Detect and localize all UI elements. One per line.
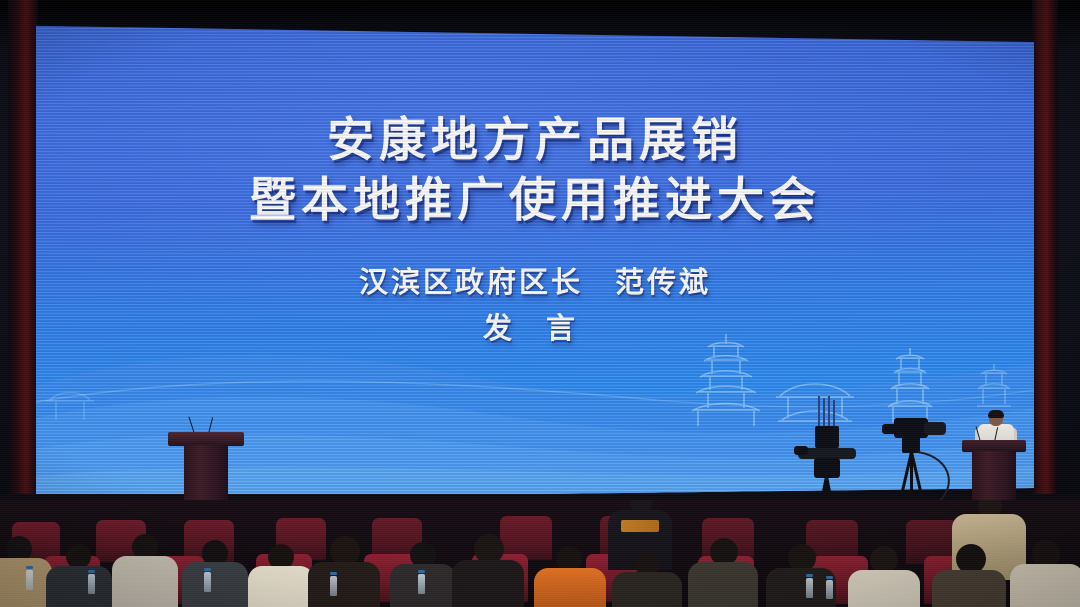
speaker-name-line: 汉滨区政府区长 范传斌 [36,262,1034,302]
speech-label-line: 发 言 [36,308,1034,348]
audience-area [0,500,1080,607]
speaker-hair [988,410,1004,418]
camera-lens-right [924,422,946,435]
camera-antenna-c [828,396,830,426]
water-bottle-cap [418,570,425,573]
camera-antenna-b [823,398,825,426]
person-shoulders [688,562,758,607]
person [48,544,110,607]
water-bottle [88,574,95,594]
person [182,540,246,607]
water-bottle [806,578,813,598]
camera-antenna-d [833,400,835,426]
stage-curtain-left [8,0,38,540]
person-shoulders [308,562,380,607]
camera-viewfinder-right [882,424,896,434]
water-bottle [826,580,833,599]
camera-antenna-a [818,396,820,426]
water-bottle-cap [88,570,95,573]
person-shoulders [932,570,1006,607]
person [310,536,378,607]
person [614,550,680,607]
camera-light-center [794,446,808,455]
person-shoulders [248,566,314,607]
water-bottle-cap [204,568,211,571]
person-shoulders [182,562,248,607]
water-bottle [330,576,337,596]
event-title-line-2: 暨本地推广使用推进大会 [36,172,1034,230]
water-bottle [204,572,211,592]
podium-left-body [184,445,228,500]
person-cream-shirt [848,546,918,607]
person [112,534,176,607]
person-shoulders [848,570,920,607]
person [766,544,834,607]
person-shoulders [1010,564,1080,607]
podium-left-top [168,432,244,446]
camera-body-center [815,426,839,448]
podium-right-body [972,451,1016,502]
conference-hall-photo: 安康地方产品展销 暨本地推广使用推进大会 汉滨区政府区长 范传斌 发 言 [0,0,1080,607]
water-bottle [26,570,33,590]
person-orange-shirt [534,546,604,607]
water-bottle-cap [806,574,813,577]
jacket-graphic [621,520,659,532]
person [452,534,522,607]
water-bottle [418,574,425,594]
person-shoulders [452,560,524,607]
stage-curtain-right [1032,0,1058,540]
event-title-line-1: 安康地方产品展销 [36,112,1034,170]
person-shoulders [46,566,112,607]
water-bottle-cap [330,572,337,575]
led-screen-text-block: 安康地方产品展销 暨本地推广使用推进大会 汉滨区政府区长 范传斌 发 言 [36,22,1034,348]
water-bottle-cap [826,576,833,579]
camera-body-right [894,418,928,438]
person [932,544,1004,607]
podium-left [168,432,244,500]
person [0,536,50,607]
person [1012,540,1080,607]
person-shoulders [612,572,682,607]
person-shoulders [112,556,178,607]
person [250,544,312,607]
person-shoulders [534,568,606,607]
water-bottle-cap [26,566,33,569]
person [688,538,756,607]
